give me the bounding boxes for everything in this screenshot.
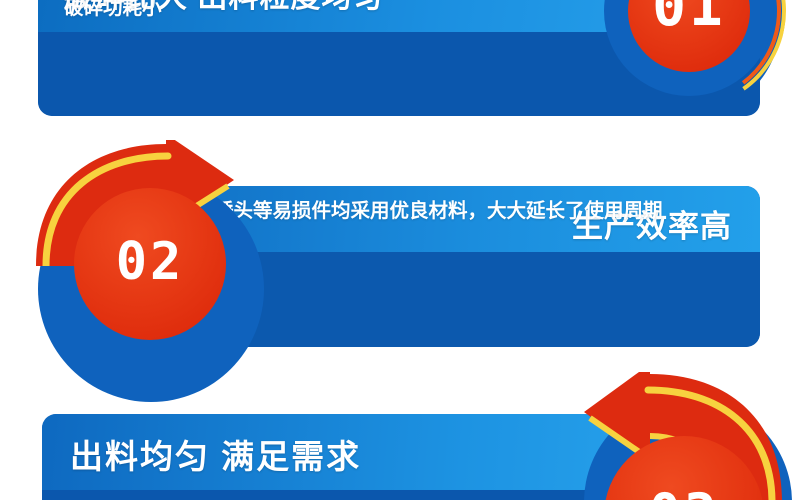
card-01-body-text: 进料口大、破碎腔高，适应物料硬度高、块度大，产品石粉少，破碎功耗小 xyxy=(64,0,624,22)
badge-03-number: 03 xyxy=(604,482,764,500)
infographic-stage: 破碎比大 出料粒度均匀 进料口大、破碎腔高，适应物料硬度高、块度大，产品石粉少，… xyxy=(0,0,800,500)
card-03-title: 出料均匀 满足需求 xyxy=(70,430,361,478)
badge-01-number: 01 xyxy=(604,0,774,39)
badge-01[interactable]: 01 xyxy=(604,0,774,96)
badge-02[interactable]: 02 xyxy=(74,188,226,340)
badge-02-number: 02 xyxy=(74,232,226,292)
badge-03[interactable]: 03 xyxy=(604,436,764,500)
